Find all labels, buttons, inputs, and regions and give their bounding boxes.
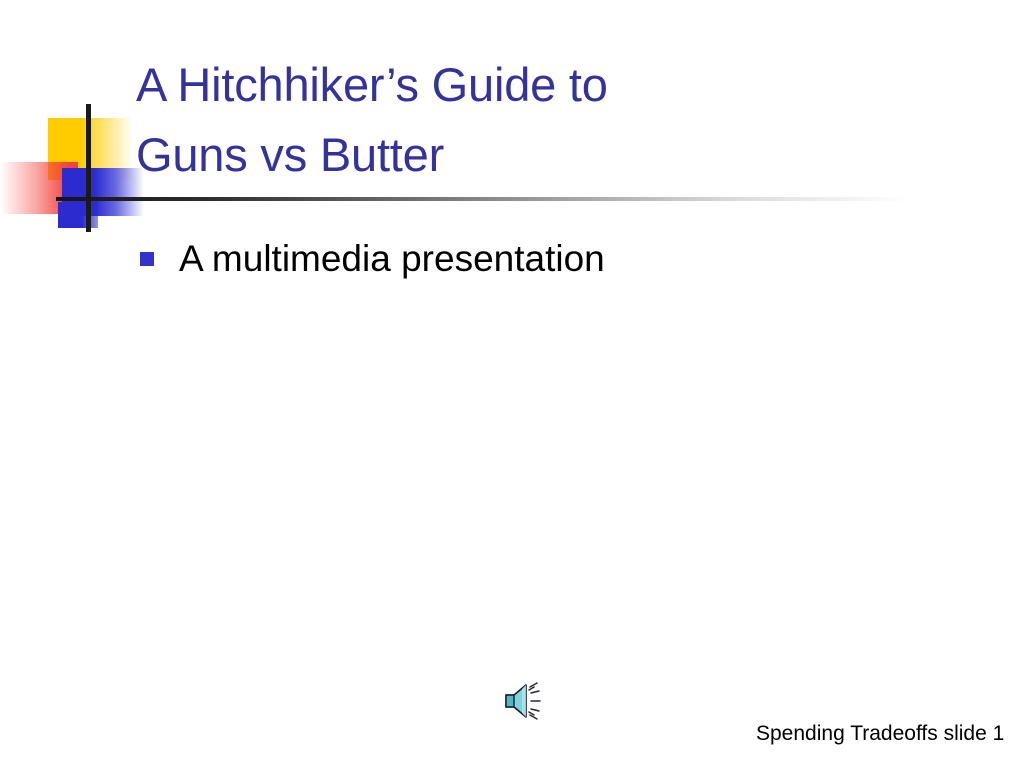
slide-body: A multimedia presentation bbox=[140, 236, 940, 282]
vertical-rule-icon bbox=[86, 104, 91, 232]
presentation-slide: A Hitchhiker’s Guide to Guns vs Butter A… bbox=[0, 0, 1024, 768]
list-item: A multimedia presentation bbox=[140, 236, 940, 282]
square-bullet-icon bbox=[140, 252, 154, 266]
blue-small-square-icon bbox=[58, 202, 98, 228]
speaker-icon[interactable] bbox=[500, 681, 546, 721]
speaker-icon-svg bbox=[500, 681, 546, 721]
list-item-label: A multimedia presentation bbox=[179, 236, 605, 282]
horizontal-rule bbox=[56, 197, 911, 201]
slide-footer: Spending Tradeoffs slide 1 bbox=[756, 721, 1004, 747]
slide-title: A Hitchhiker’s Guide to Guns vs Butter bbox=[136, 50, 896, 190]
